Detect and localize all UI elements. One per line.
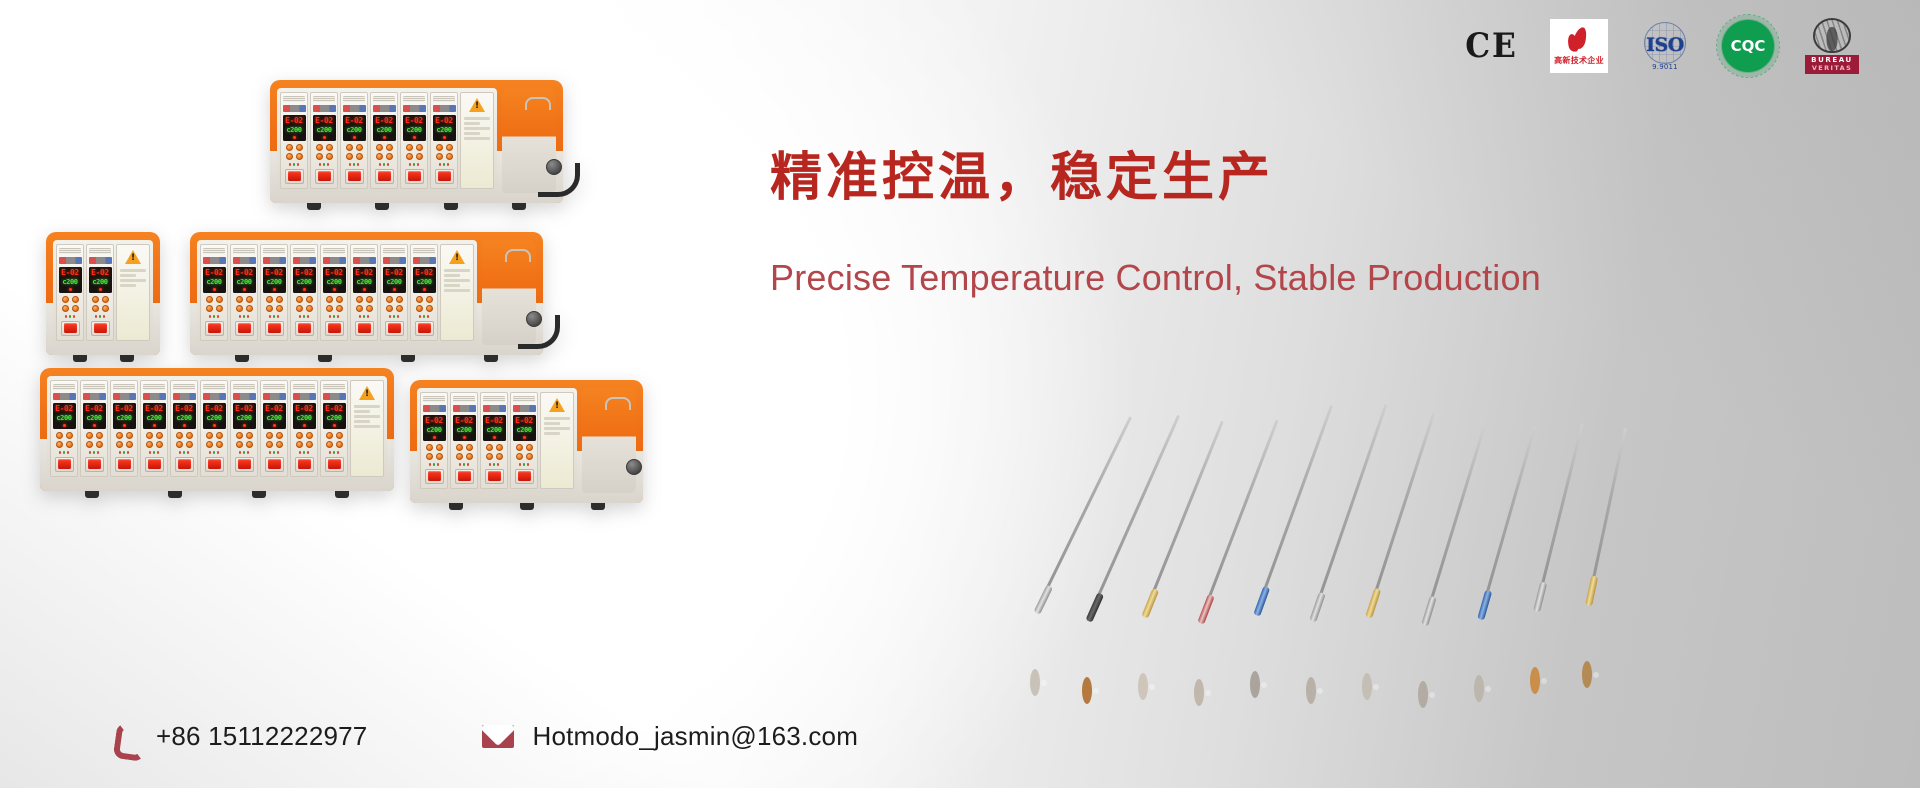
led-display: E-02 c200 <box>373 115 396 141</box>
knob-button <box>72 296 79 303</box>
control-module: E-02c200 <box>170 380 198 477</box>
knob-button <box>86 441 93 448</box>
vent-grille-icon <box>293 248 315 254</box>
button-pad <box>316 144 333 160</box>
unit-feet <box>56 354 150 362</box>
control-module: E-02c200 <box>260 380 288 477</box>
knob-button <box>316 153 323 160</box>
knob-button <box>276 305 283 312</box>
led-indicator-dot <box>303 424 306 427</box>
led-value-primary: E-02 <box>115 405 133 413</box>
knob-button <box>186 441 193 448</box>
ce-mark-icon: CE <box>1463 29 1520 63</box>
button-pad <box>406 144 423 160</box>
vent-grille-icon <box>423 396 445 402</box>
vent-grille-icon <box>453 396 475 402</box>
led-value-primary: E-02 <box>55 405 73 413</box>
probe-ferrule <box>1253 586 1270 617</box>
led-value-primary: E-02 <box>345 117 363 125</box>
vent-grille-icon <box>293 384 315 390</box>
led-indicator-dot <box>273 288 276 291</box>
led-value-primary: E-02 <box>91 269 109 277</box>
brand-strip <box>263 393 286 400</box>
led-value-secondary: c200 <box>236 415 251 422</box>
status-led-row <box>59 451 70 454</box>
knob-button <box>236 296 243 303</box>
knob-button <box>296 153 303 160</box>
knob-button <box>366 296 373 303</box>
vent-grille-icon <box>173 384 195 390</box>
knob-button <box>496 453 503 460</box>
mail-icon <box>482 725 514 748</box>
control-module: E-02c200 <box>200 380 228 477</box>
knob-button <box>436 153 443 160</box>
led-value-secondary: c200 <box>456 427 471 434</box>
status-led <box>297 163 300 166</box>
led-value-secondary: c200 <box>62 279 77 286</box>
knob-button <box>316 144 323 151</box>
knob-button <box>516 444 523 451</box>
led-value-secondary: c200 <box>326 415 341 422</box>
knob-button <box>446 144 453 151</box>
brand-strip <box>53 393 76 400</box>
control-module: E-02 c200 <box>260 244 288 341</box>
control-module: E-02c200 <box>450 392 478 489</box>
knob-button <box>236 305 243 312</box>
knob-button <box>206 305 213 312</box>
led-indicator-dot <box>63 424 66 427</box>
led-indicator-dot <box>303 288 306 291</box>
cqc-certification-icon: CQC <box>1722 20 1774 72</box>
button-pad <box>486 444 503 460</box>
power-rocker-switch <box>205 457 224 472</box>
knob-button <box>286 153 293 160</box>
status-led-row <box>289 163 300 166</box>
probe-stem <box>1479 425 1536 616</box>
knob-button <box>516 453 523 460</box>
brand-strip <box>173 393 196 400</box>
status-led <box>357 163 360 166</box>
unit-feet <box>420 502 633 510</box>
control-module: E-02 c200 <box>340 92 368 189</box>
button-pad <box>206 432 223 448</box>
knob-button <box>266 305 273 312</box>
status-led-row <box>119 451 130 454</box>
vent-grille-icon <box>353 248 375 254</box>
led-value-secondary: c200 <box>426 427 441 434</box>
control-module: E-02 c200 <box>400 92 428 189</box>
brand-strip <box>323 257 346 264</box>
knob-button <box>326 144 333 151</box>
led-display: E-02 c200 <box>89 267 112 293</box>
status-led-row <box>239 315 250 318</box>
vent-grille-icon <box>233 384 255 390</box>
promo-banner: CE 高新技术企业 ISO 9.9011 CQC BUREAU VERITAS … <box>0 0 1920 788</box>
cable-coil <box>1362 673 1372 700</box>
knob-button <box>336 305 343 312</box>
led-value-primary: E-02 <box>385 269 403 277</box>
knob-button <box>426 305 433 312</box>
power-rocker-switch <box>145 457 164 472</box>
led-display: E-02c200 <box>83 403 106 429</box>
knob-button <box>66 432 73 439</box>
led-display: E-02c200 <box>513 415 536 441</box>
control-module: E-02 c200 <box>56 244 84 341</box>
control-module: E-02c200 <box>320 380 348 477</box>
led-value-primary: E-02 <box>285 117 303 125</box>
knob-button <box>416 296 423 303</box>
probe-stem <box>1255 405 1333 613</box>
led-value-primary: E-02 <box>295 269 313 277</box>
power-rocker-switch <box>455 469 474 484</box>
led-display: E-02c200 <box>263 403 286 429</box>
led-display: E-02 c200 <box>323 267 346 293</box>
controller-side-panel <box>502 88 556 193</box>
knob-button <box>306 441 313 448</box>
headline-chinese: 精准控温，稳定生产 <box>770 150 1541 207</box>
button-pad <box>116 432 133 448</box>
bureau-veritas-band: BUREAU VERITAS <box>1805 55 1859 74</box>
status-led-row <box>239 451 250 454</box>
led-display: E-02 c200 <box>59 267 82 293</box>
vent-grille-icon <box>313 96 335 102</box>
led-display: E-02 c200 <box>203 267 226 293</box>
cable-coil <box>1030 669 1040 696</box>
button-pad <box>296 432 313 448</box>
probe-ferrule <box>1141 588 1159 618</box>
led-indicator-dot <box>333 424 336 427</box>
control-module: E-02 c200 <box>320 244 348 341</box>
led-indicator-dot <box>69 288 72 291</box>
controller-shell: E-02c200 E-02c200 E-02c200 E-02c200 <box>410 380 643 503</box>
control-module: E-02c200 <box>50 380 78 477</box>
iso-sublabel: 9.9011 <box>1652 63 1678 71</box>
led-display: E-02 c200 <box>283 115 306 141</box>
knob-button <box>266 441 273 448</box>
knob-button <box>396 296 403 303</box>
button-pad <box>416 296 433 312</box>
status-led <box>319 163 322 166</box>
thermocouple-probe <box>1418 686 1428 704</box>
knob-button <box>346 153 353 160</box>
power-rocker-switch <box>115 457 134 472</box>
status-led-row <box>209 451 220 454</box>
probe-ferrule <box>1477 590 1492 621</box>
led-value-primary: E-02 <box>415 269 433 277</box>
knob-button <box>386 144 393 151</box>
knob-button <box>426 444 433 451</box>
vent-grille-icon <box>203 248 225 254</box>
warning-triangle-icon <box>469 98 485 112</box>
led-display: E-02c200 <box>143 403 166 429</box>
brand-strip <box>283 105 306 112</box>
controller-unit-top: E-02 c200 <box>270 80 563 203</box>
button-pad <box>426 444 443 460</box>
vent-grille-icon <box>323 384 345 390</box>
brand-strip <box>233 393 256 400</box>
carry-handle-icon <box>605 397 631 410</box>
led-indicator-dot <box>393 288 396 291</box>
knob-button <box>416 153 423 160</box>
led-value-primary: E-02 <box>61 269 79 277</box>
led-value-primary: E-02 <box>515 417 533 425</box>
knob-button <box>426 453 433 460</box>
probe-stem <box>1535 423 1583 608</box>
power-rocker-switch <box>55 457 74 472</box>
status-led-row <box>389 315 400 318</box>
knob-button <box>356 296 363 303</box>
unit-feet <box>200 354 533 362</box>
led-value-primary: E-02 <box>265 269 283 277</box>
led-value-secondary: c200 <box>356 279 371 286</box>
led-indicator-dot <box>273 424 276 427</box>
thermocouple-probe <box>1138 678 1148 696</box>
knob-button <box>246 441 253 448</box>
knob-button <box>216 432 223 439</box>
warning-triangle-icon <box>125 250 141 264</box>
led-display: E-02c200 <box>483 415 506 441</box>
knob-button <box>326 296 333 303</box>
status-led-row <box>269 451 280 454</box>
knob-button <box>286 144 293 151</box>
bureau-veritas-sublabel: VERITAS <box>1812 65 1852 72</box>
status-led-row <box>359 315 370 318</box>
controller-unit-mid-left: E-02 c200 <box>46 232 160 355</box>
control-module: E-02c200 <box>510 392 538 489</box>
knob-button <box>386 305 393 312</box>
control-module: E-02 c200 <box>280 92 308 189</box>
button-pad <box>176 432 193 448</box>
led-indicator-dot <box>443 136 446 139</box>
unit-feet <box>50 490 384 498</box>
thermocouple-probe <box>1082 682 1092 700</box>
knob-button <box>336 432 343 439</box>
vent-grille-icon <box>513 396 535 402</box>
status-led <box>413 163 416 166</box>
cable-coil <box>1082 677 1092 704</box>
led-indicator-dot <box>293 136 296 139</box>
led-indicator-dot <box>383 136 386 139</box>
led-display: E-02 c200 <box>413 267 436 293</box>
led-indicator-dot <box>493 436 496 439</box>
status-led <box>95 315 98 318</box>
vent-grille-icon <box>53 384 75 390</box>
brand-strip <box>203 393 226 400</box>
power-cable <box>538 163 580 197</box>
vent-grille-icon <box>283 96 305 102</box>
cqc-label: CQC <box>1731 37 1766 55</box>
status-led-row <box>179 451 190 454</box>
probe-stem <box>1423 427 1485 623</box>
power-rocker-switch <box>265 457 284 472</box>
knob-button <box>346 144 353 151</box>
contact-email[interactable]: Hotmodo_jasmin@163.com <box>482 721 858 752</box>
probe-ferrule <box>1421 596 1436 627</box>
brand-strip <box>143 393 166 400</box>
led-indicator-dot <box>243 424 246 427</box>
status-led <box>383 163 386 166</box>
headline-english: Precise Temperature Control, Stable Prod… <box>770 257 1541 299</box>
control-module: E-02c200 <box>140 380 168 477</box>
knob-button <box>236 432 243 439</box>
button-pad <box>326 432 343 448</box>
led-indicator-dot <box>323 136 326 139</box>
knob-button <box>62 305 69 312</box>
led-value-primary: E-02 <box>375 117 393 125</box>
contact-bar: +86 15112222977 Hotmodo_jasmin@163.com <box>112 721 858 752</box>
brand-strip <box>89 257 112 264</box>
button-pad <box>146 432 163 448</box>
brand-strip <box>453 405 476 412</box>
control-module: E-02 c200 <box>290 244 318 341</box>
knob-button <box>102 305 109 312</box>
vent-grille-icon <box>433 96 455 102</box>
probe-ferrule <box>1085 592 1104 622</box>
led-value-secondary: c200 <box>116 415 131 422</box>
brand-strip <box>203 257 226 264</box>
button-pad <box>206 296 223 312</box>
knob-button <box>306 432 313 439</box>
knob-button <box>296 432 303 439</box>
unit-feet <box>280 202 553 210</box>
led-value-primary: E-02 <box>355 269 373 277</box>
status-led <box>439 163 442 166</box>
warning-triangle-icon <box>359 386 375 400</box>
controller-side-panel <box>482 240 536 345</box>
knob-button <box>486 444 493 451</box>
knob-button <box>446 153 453 160</box>
led-value-secondary: c200 <box>376 127 391 134</box>
led-value-secondary: c200 <box>286 127 301 134</box>
status-led-row <box>299 451 310 454</box>
led-value-secondary: c200 <box>266 279 281 286</box>
status-led <box>293 163 296 166</box>
controller-face: E-02c200 E-02c200 E-02c200 E-02c200 <box>417 388 577 493</box>
knob-button <box>56 441 63 448</box>
knob-button <box>356 153 363 160</box>
led-value-primary: E-02 <box>175 405 193 413</box>
controller-unit-mid-right: E-02 c200 E-02 c200 <box>190 232 543 355</box>
probe-stem <box>1035 416 1131 610</box>
cable-coil <box>1582 661 1592 688</box>
high-tech-enterprise-label: 高新技术企业 <box>1554 55 1604 66</box>
knob-button <box>216 305 223 312</box>
led-value-secondary: c200 <box>346 127 361 134</box>
status-led-row <box>349 163 360 166</box>
led-value-primary: E-02 <box>485 417 503 425</box>
status-led-row <box>329 315 340 318</box>
led-display: E-02c200 <box>423 415 446 441</box>
brand-strip <box>383 257 406 264</box>
knob-button <box>156 441 163 448</box>
power-rocker-switch <box>405 169 424 184</box>
brand-strip <box>113 393 136 400</box>
cable-connector-icon <box>626 459 642 475</box>
knob-button <box>116 432 123 439</box>
knob-button <box>126 441 133 448</box>
knob-button <box>266 296 273 303</box>
led-value-primary: E-02 <box>325 269 343 277</box>
vent-grille-icon <box>59 248 81 254</box>
status-led-row <box>379 163 390 166</box>
knob-button <box>436 444 443 451</box>
status-led <box>379 163 382 166</box>
led-indicator-dot <box>243 288 246 291</box>
thermocouple-probe <box>1362 678 1372 696</box>
power-rocker-switch <box>435 169 454 184</box>
status-led <box>65 315 68 318</box>
power-rocker-switch <box>235 321 254 336</box>
iso-certification-icon: ISO 9.9011 <box>1638 20 1692 72</box>
led-indicator-dot <box>213 288 216 291</box>
led-value-primary: E-02 <box>205 405 223 413</box>
button-pad <box>86 432 103 448</box>
controller-side-panel <box>582 388 636 493</box>
power-rocker-switch <box>295 457 314 472</box>
placard-text-lines <box>120 269 146 287</box>
led-value-primary: E-02 <box>85 405 103 413</box>
certification-badge-bar: CE 高新技术企业 ISO 9.9011 CQC BUREAU VERITAS <box>1463 18 1860 74</box>
knob-button <box>206 296 213 303</box>
led-value-secondary: c200 <box>92 279 107 286</box>
bureau-veritas-seal <box>1813 18 1851 53</box>
button-pad <box>92 296 109 312</box>
power-rocker-switch <box>85 457 104 472</box>
knob-button <box>376 153 383 160</box>
knob-button <box>186 432 193 439</box>
knob-button <box>56 432 63 439</box>
control-module: E-02c200 <box>480 392 508 489</box>
brand-strip <box>513 405 536 412</box>
knob-button <box>72 305 79 312</box>
controller-shell: E-02 c200 <box>46 232 160 355</box>
vent-grille-icon <box>263 384 285 390</box>
control-module: E-02 c200 <box>410 244 438 341</box>
knob-button <box>126 432 133 439</box>
power-rocker-switch <box>61 321 80 336</box>
cable-coil <box>1474 675 1484 702</box>
led-value-primary: E-02 <box>315 117 333 125</box>
brand-strip <box>483 405 506 412</box>
status-led-row <box>149 451 160 454</box>
vent-grille-icon <box>323 248 345 254</box>
status-led-row <box>439 163 450 166</box>
power-rocker-switch <box>415 321 434 336</box>
contact-phone[interactable]: +86 15112222977 <box>112 721 367 752</box>
status-led-row <box>299 315 310 318</box>
brand-strip <box>413 257 436 264</box>
thermocouple-probe <box>1194 684 1204 702</box>
cable-coil <box>1250 671 1260 698</box>
power-rocker-switch <box>355 321 374 336</box>
status-led <box>327 163 330 166</box>
status-led-row <box>329 451 340 454</box>
knob-button <box>66 441 73 448</box>
knob-button <box>336 441 343 448</box>
control-module: E-02 c200 <box>230 244 258 341</box>
status-led-row <box>65 315 76 318</box>
button-pad <box>436 144 453 160</box>
led-value-secondary: c200 <box>416 279 431 286</box>
knob-button <box>466 453 473 460</box>
vent-grille-icon <box>413 248 435 254</box>
status-led-row <box>269 315 280 318</box>
thermocouple-probe <box>1530 672 1540 690</box>
probe-ferrule <box>1309 592 1325 623</box>
knob-button <box>116 441 123 448</box>
knob-button <box>246 296 253 303</box>
led-indicator-dot <box>99 288 102 291</box>
